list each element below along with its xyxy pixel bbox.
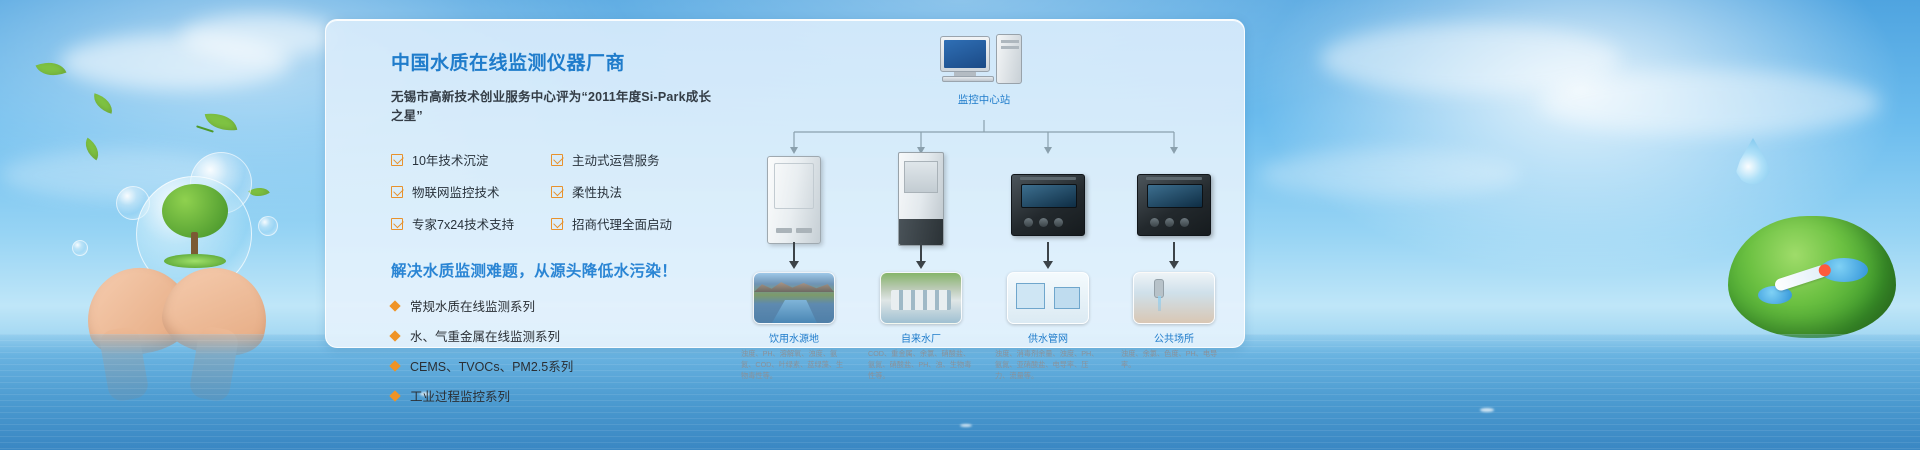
checkbox-icon xyxy=(391,154,403,166)
feature-item[interactable]: 柔性执法 xyxy=(551,182,711,201)
connector-lines xyxy=(751,120,1231,154)
feature-checklist: 10年技术沉淀 主动式运营服务 物联网监控技术 柔性执法 专家7x24技术支持 … xyxy=(391,150,721,233)
scene-description: COD、重金属、余氯、硝酸盐、氨氮、硝酸盐、PH、浊、生物毒性等。 xyxy=(863,349,979,381)
system-diagram: 监控中心站 xyxy=(751,34,1231,344)
feature-item[interactable]: 专家7x24技术支持 xyxy=(391,214,551,233)
diamond-bullet-icon xyxy=(389,390,400,401)
feature-label: 10年技术沉淀 xyxy=(412,150,488,169)
scene-card[interactable]: 公共场所 浊度、余氯、色度、PH、电导率。 xyxy=(1116,272,1232,371)
computer-icon xyxy=(940,34,1028,86)
list-item[interactable]: 常规水质在线监测系列 xyxy=(391,296,721,315)
content-panel: 中国水质在线监测仪器厂商 无锡市高新技术创业服务中心评为“2011年度Si-Pa… xyxy=(325,19,1245,348)
device-slot[interactable] xyxy=(1119,174,1229,236)
scene-caption: 公共场所 xyxy=(1116,330,1232,345)
panel-controller-icon xyxy=(1137,174,1211,236)
pc-tower-icon xyxy=(996,34,1022,84)
list-item[interactable]: 水、气重金属在线监测系列 xyxy=(391,326,721,345)
device-row xyxy=(751,152,1231,256)
feature-label: 物联网监控技术 xyxy=(412,182,500,201)
panel-lcd-screen xyxy=(1147,184,1203,208)
scene-card[interactable]: 自来水厂 COD、重金属、余氯、硝酸盐、氨氮、硝酸盐、PH、浊、生物毒性等。 xyxy=(863,272,979,381)
diamond-bullet-icon xyxy=(389,330,400,341)
scene-caption: 供水管网 xyxy=(990,330,1106,345)
feature-item[interactable]: 10年技术沉淀 xyxy=(391,150,551,169)
left-text-column: 中国水质在线监测仪器厂商 无锡市高新技术创业服务中心评为“2011年度Si-Pa… xyxy=(391,48,721,405)
scene-description: 浊度、余氯、色度、PH、电导率。 xyxy=(1116,349,1232,371)
product-line-label: 水、气重金属在线监测系列 xyxy=(410,326,560,345)
diamond-bullet-icon xyxy=(389,360,400,371)
center-station-label: 监控中心站 xyxy=(929,92,1039,107)
page-title: 中国水质在线监测仪器厂商 xyxy=(391,48,721,75)
monitoring-center-node: 监控中心站 xyxy=(929,34,1039,107)
diamond-bullet-icon xyxy=(389,300,400,311)
device-slot[interactable] xyxy=(866,152,976,246)
panel-lcd-screen xyxy=(1021,184,1077,208)
checkbox-icon xyxy=(391,186,403,198)
product-line-label: CEMS、TVOCs、PM2.5系列 xyxy=(410,356,573,375)
feature-label: 专家7x24技术支持 xyxy=(412,214,514,233)
checkbox-icon xyxy=(551,218,563,230)
section-subheading: 解决水质监测难题，从源头降低水污染！ xyxy=(391,259,721,281)
feature-label: 主动式运营服务 xyxy=(572,150,660,169)
scene-caption: 饮用水源地 xyxy=(736,330,852,345)
cloud-shape xyxy=(1260,150,1520,198)
scene-caption: 自来水厂 xyxy=(863,330,979,345)
cloud-shape xyxy=(1540,70,1880,136)
device-slot[interactable] xyxy=(739,156,849,244)
checkbox-icon xyxy=(551,154,563,166)
tree-canopy xyxy=(162,184,228,238)
down-arrow-icon xyxy=(793,242,795,262)
scene-card[interactable]: 饮用水源地 浊度、PH、溶解氧、浊度、氨氮、COD、叶绿素、蓝绿藻、生物毒性等。 xyxy=(736,272,852,381)
water-sparkle xyxy=(960,424,972,427)
monitor-icon xyxy=(940,36,990,72)
water-sparkle xyxy=(1480,408,1494,412)
down-arrow-row xyxy=(751,242,1231,272)
scene-photo-drinking-water-source xyxy=(753,272,835,324)
page-subtitle: 无锡市高新技术创业服务中心评为“2011年度Si-Park成长之星” xyxy=(391,86,721,124)
feature-label: 招商代理全面启动 xyxy=(572,214,672,233)
cloud-shape xyxy=(180,14,340,58)
checkbox-icon xyxy=(391,218,403,230)
list-item[interactable]: 工业过程监控系列 xyxy=(391,386,721,405)
feature-item[interactable]: 招商代理全面启动 xyxy=(551,214,711,233)
panel-controller-icon xyxy=(1011,174,1085,236)
monitor-screen xyxy=(944,40,986,68)
scene-row: 饮用水源地 浊度、PH、溶解氧、浊度、氨氮、COD、叶绿素、蓝绿藻、生物毒性等。… xyxy=(751,272,1231,344)
scene-photo-water-supply-network xyxy=(1007,272,1089,324)
down-arrow-icon xyxy=(920,242,922,262)
panel-top-strip xyxy=(1146,177,1202,180)
list-item[interactable]: CEMS、TVOCs、PM2.5系列 xyxy=(391,356,721,375)
tree-base xyxy=(164,254,226,268)
product-line-list: 常规水质在线监测系列 水、气重金属在线监测系列 CEMS、TVOCs、PM2.5… xyxy=(391,296,721,405)
scene-card[interactable]: 供水管网 浊度、消毒剂余量、浊度、PH、氨氮、亚硝酸盐、电导率、压力、流量等。 xyxy=(990,272,1106,381)
feature-label: 柔性执法 xyxy=(572,182,622,201)
feature-item[interactable]: 主动式运营服务 xyxy=(551,150,711,169)
feature-item[interactable]: 物联网监控技术 xyxy=(391,182,551,201)
product-line-label: 常规水质在线监测系列 xyxy=(410,296,535,315)
panel-top-strip xyxy=(1020,177,1076,180)
scene-description: 浊度、PH、溶解氧、浊度、氨氮、COD、叶绿素、蓝绿藻、生物毒性等。 xyxy=(736,349,852,381)
checkbox-icon xyxy=(551,186,563,198)
down-arrow-icon xyxy=(1173,242,1175,262)
device-slot[interactable] xyxy=(993,174,1103,236)
cabinet-analyzer-icon xyxy=(767,156,821,244)
panel-buttons xyxy=(1024,218,1063,227)
tall-cabinet-analyzer-icon xyxy=(898,152,944,246)
panel-buttons xyxy=(1150,218,1189,227)
scene-description: 浊度、消毒剂余量、浊度、PH、氨氮、亚硝酸盐、电导率、压力、流量等。 xyxy=(990,349,1106,381)
scene-photo-waterworks xyxy=(880,272,962,324)
scene-photo-public-venue xyxy=(1133,272,1215,324)
down-arrow-icon xyxy=(1047,242,1049,262)
product-line-label: 工业过程监控系列 xyxy=(410,386,510,405)
keyboard-icon xyxy=(942,76,994,82)
